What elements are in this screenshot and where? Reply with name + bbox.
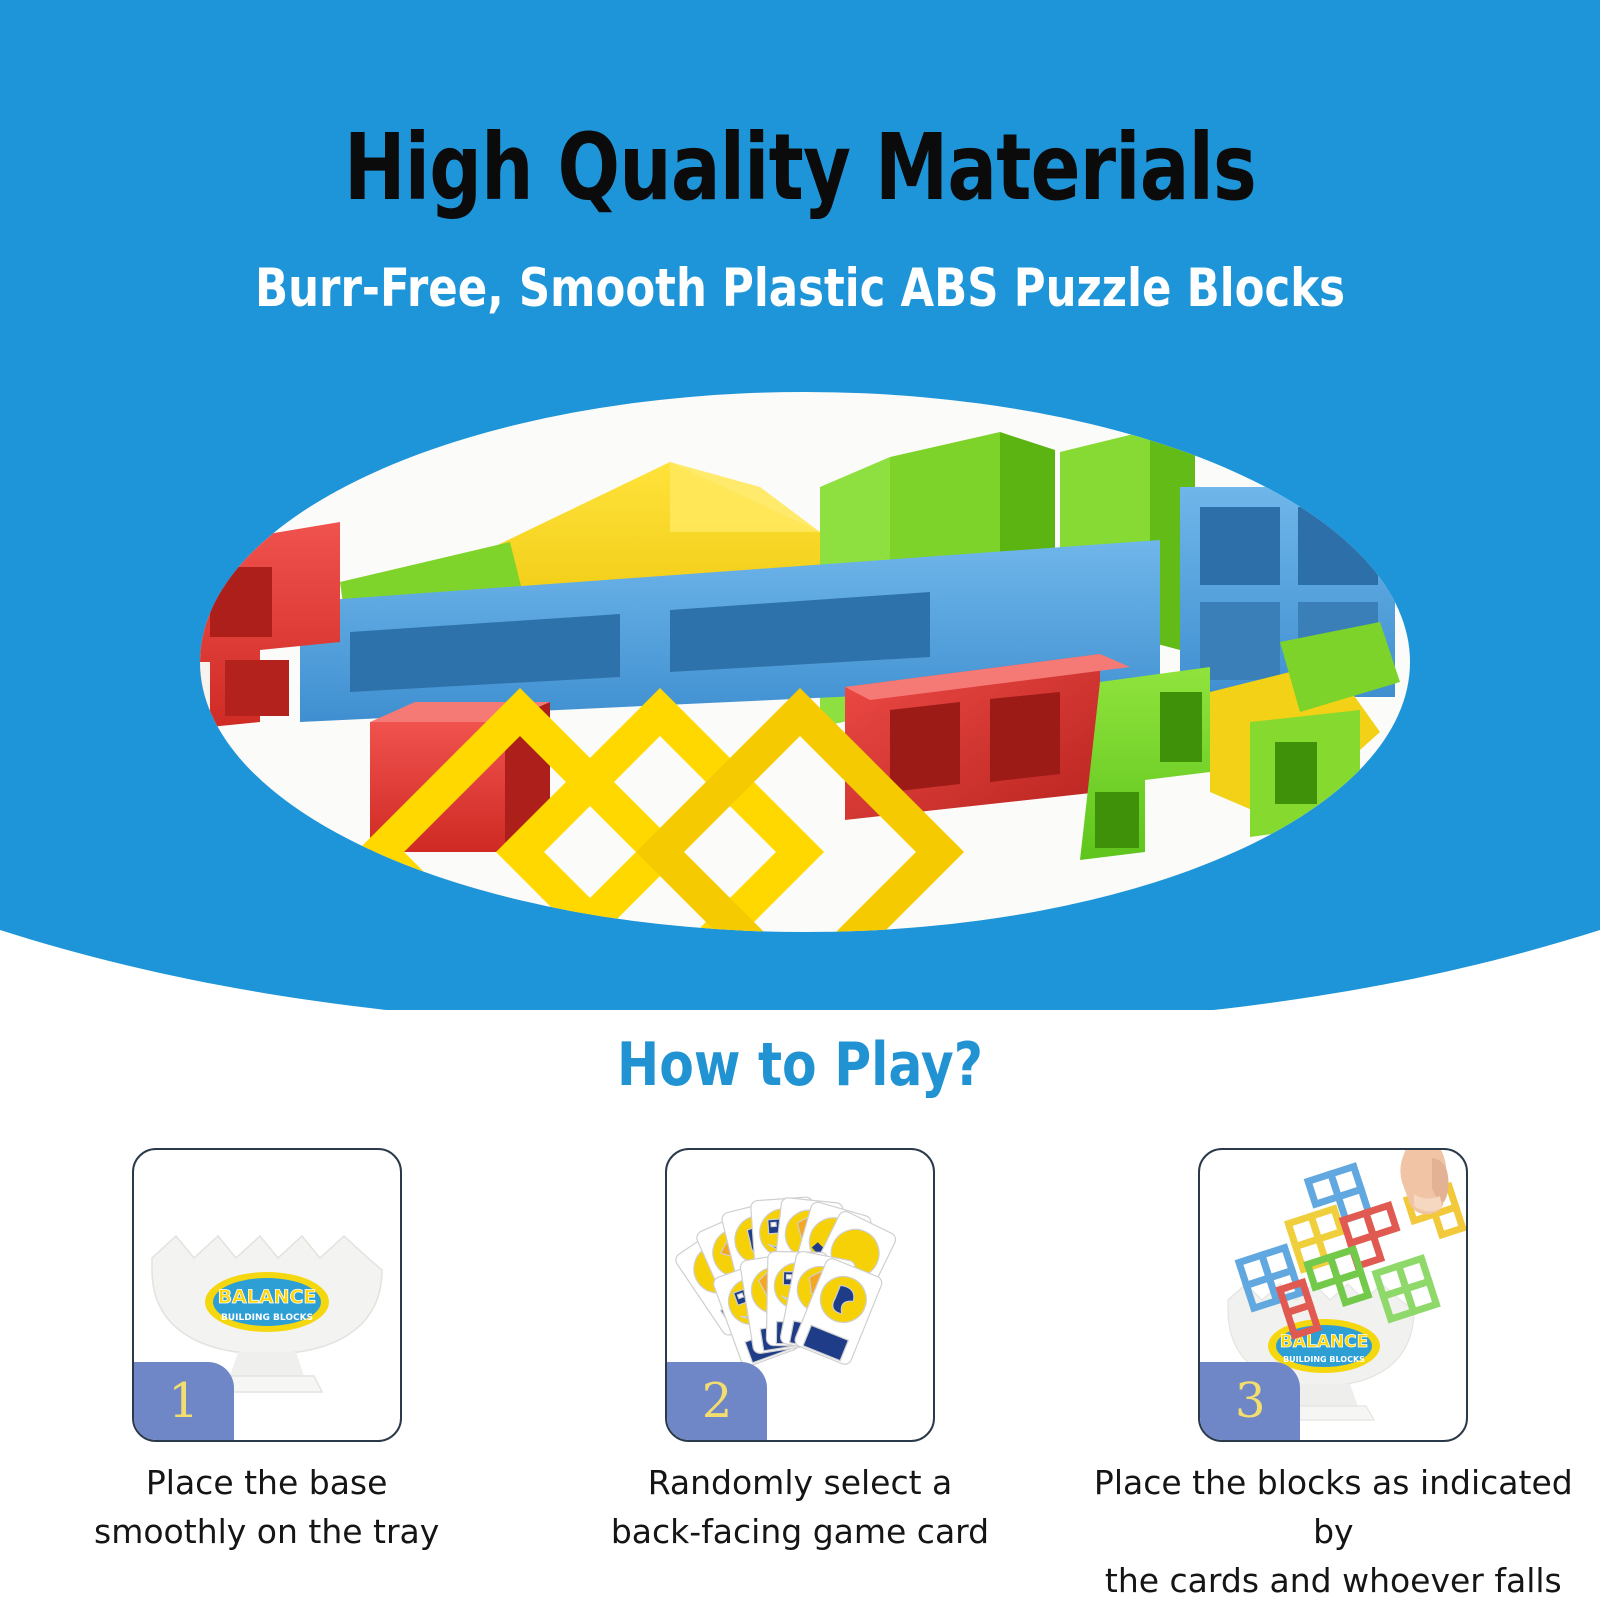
how-to-play-title: How to Play? [128,1030,1472,1100]
infographic-page: High Quality Materials Burr-Free, Smooth… [0,0,1600,1600]
step-3-caption: Place the blocks as indicated by the car… [1067,1458,1600,1600]
step-3-card[interactable]: BALANCE BUILDING BLOCKS [1198,1148,1468,1442]
page-title: High Quality Materials [160,122,1440,214]
step-1-caption-line-1: Place the base [10,1458,523,1507]
page-subtitle: Burr-Free, Smooth Plastic ABS Puzzle Blo… [144,262,1456,315]
steps-row: BALANCE BUILDING BLOCKS 1 Place the base… [0,1148,1600,1600]
step-1-caption-line-2: smoothly on the tray [10,1507,523,1556]
hero-product-photo [200,392,1410,932]
step-2-card[interactable]: 2 [665,1148,935,1442]
logo-sub-text: BUILDING BLOCKS [1283,1355,1365,1364]
step-3-caption-line-2: the cards and whoever falls first [1071,1556,1596,1600]
step-2-caption-line-2: back-facing game card [543,1507,1056,1556]
step-2: 2 Randomly select a back-facing game car… [533,1148,1066,1600]
step-1-card[interactable]: BALANCE BUILDING BLOCKS 1 [132,1148,402,1442]
hero-oval [200,392,1410,932]
step-2-caption: Randomly select a back-facing game card [533,1458,1066,1556]
step-3-number: 3 [1200,1362,1300,1440]
step-1-caption: Place the base smoothly on the tray [0,1458,533,1556]
logo-sub-text: BUILDING BLOCKS [221,1313,313,1323]
step-2-caption-line-1: Randomly select a [543,1458,1056,1507]
step-2-number: 2 [667,1362,767,1440]
logo-balance-text: BALANCE [217,1286,316,1308]
step-3-caption-line-1: Place the blocks as indicated by [1071,1458,1596,1556]
step-1: BALANCE BUILDING BLOCKS 1 Place the base… [0,1148,533,1600]
step-3: BALANCE BUILDING BLOCKS [1067,1148,1600,1600]
step-1-number: 1 [134,1362,234,1440]
hero-block-green-step [1080,667,1210,860]
